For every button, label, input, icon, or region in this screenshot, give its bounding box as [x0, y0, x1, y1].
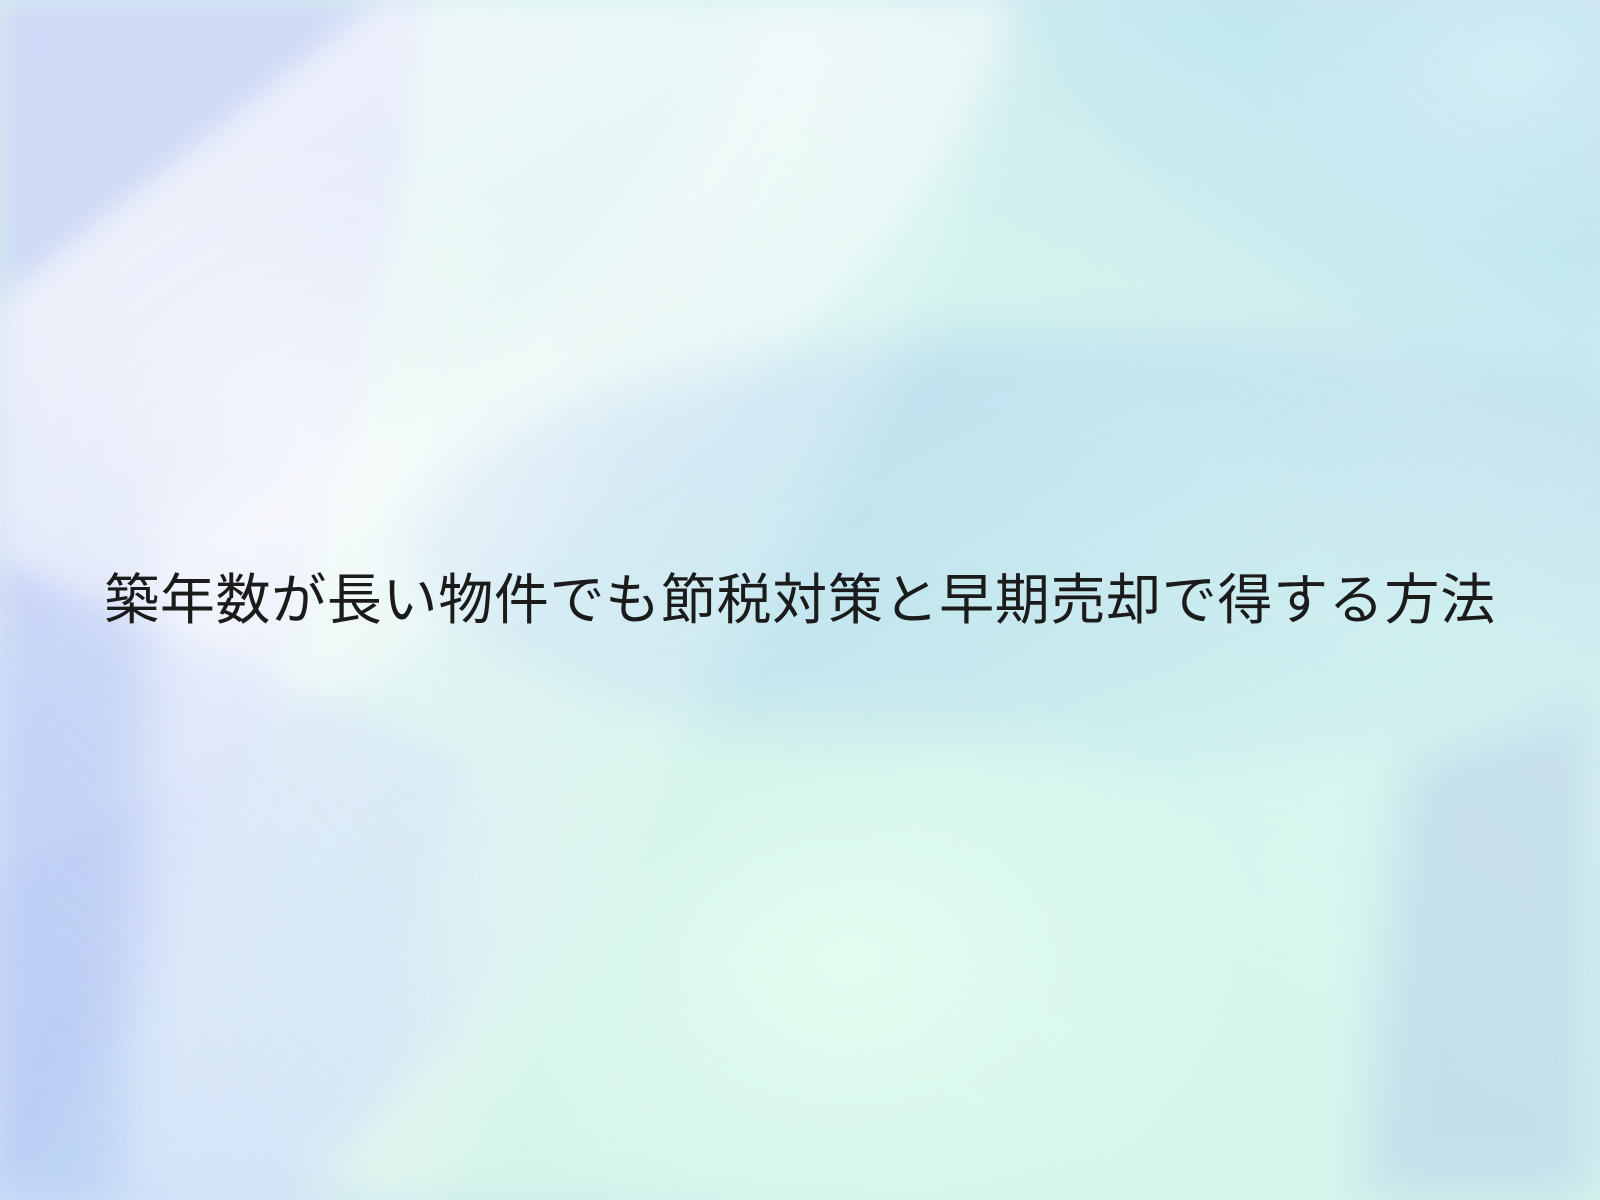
- glow-center-left: [0, 130, 630, 730]
- background-artwork: [0, 0, 1600, 1200]
- title-slide: 築年数が長い物件でも節税対策と早期売却で得する方法: [0, 0, 1600, 1200]
- background-svg: [0, 0, 1600, 1200]
